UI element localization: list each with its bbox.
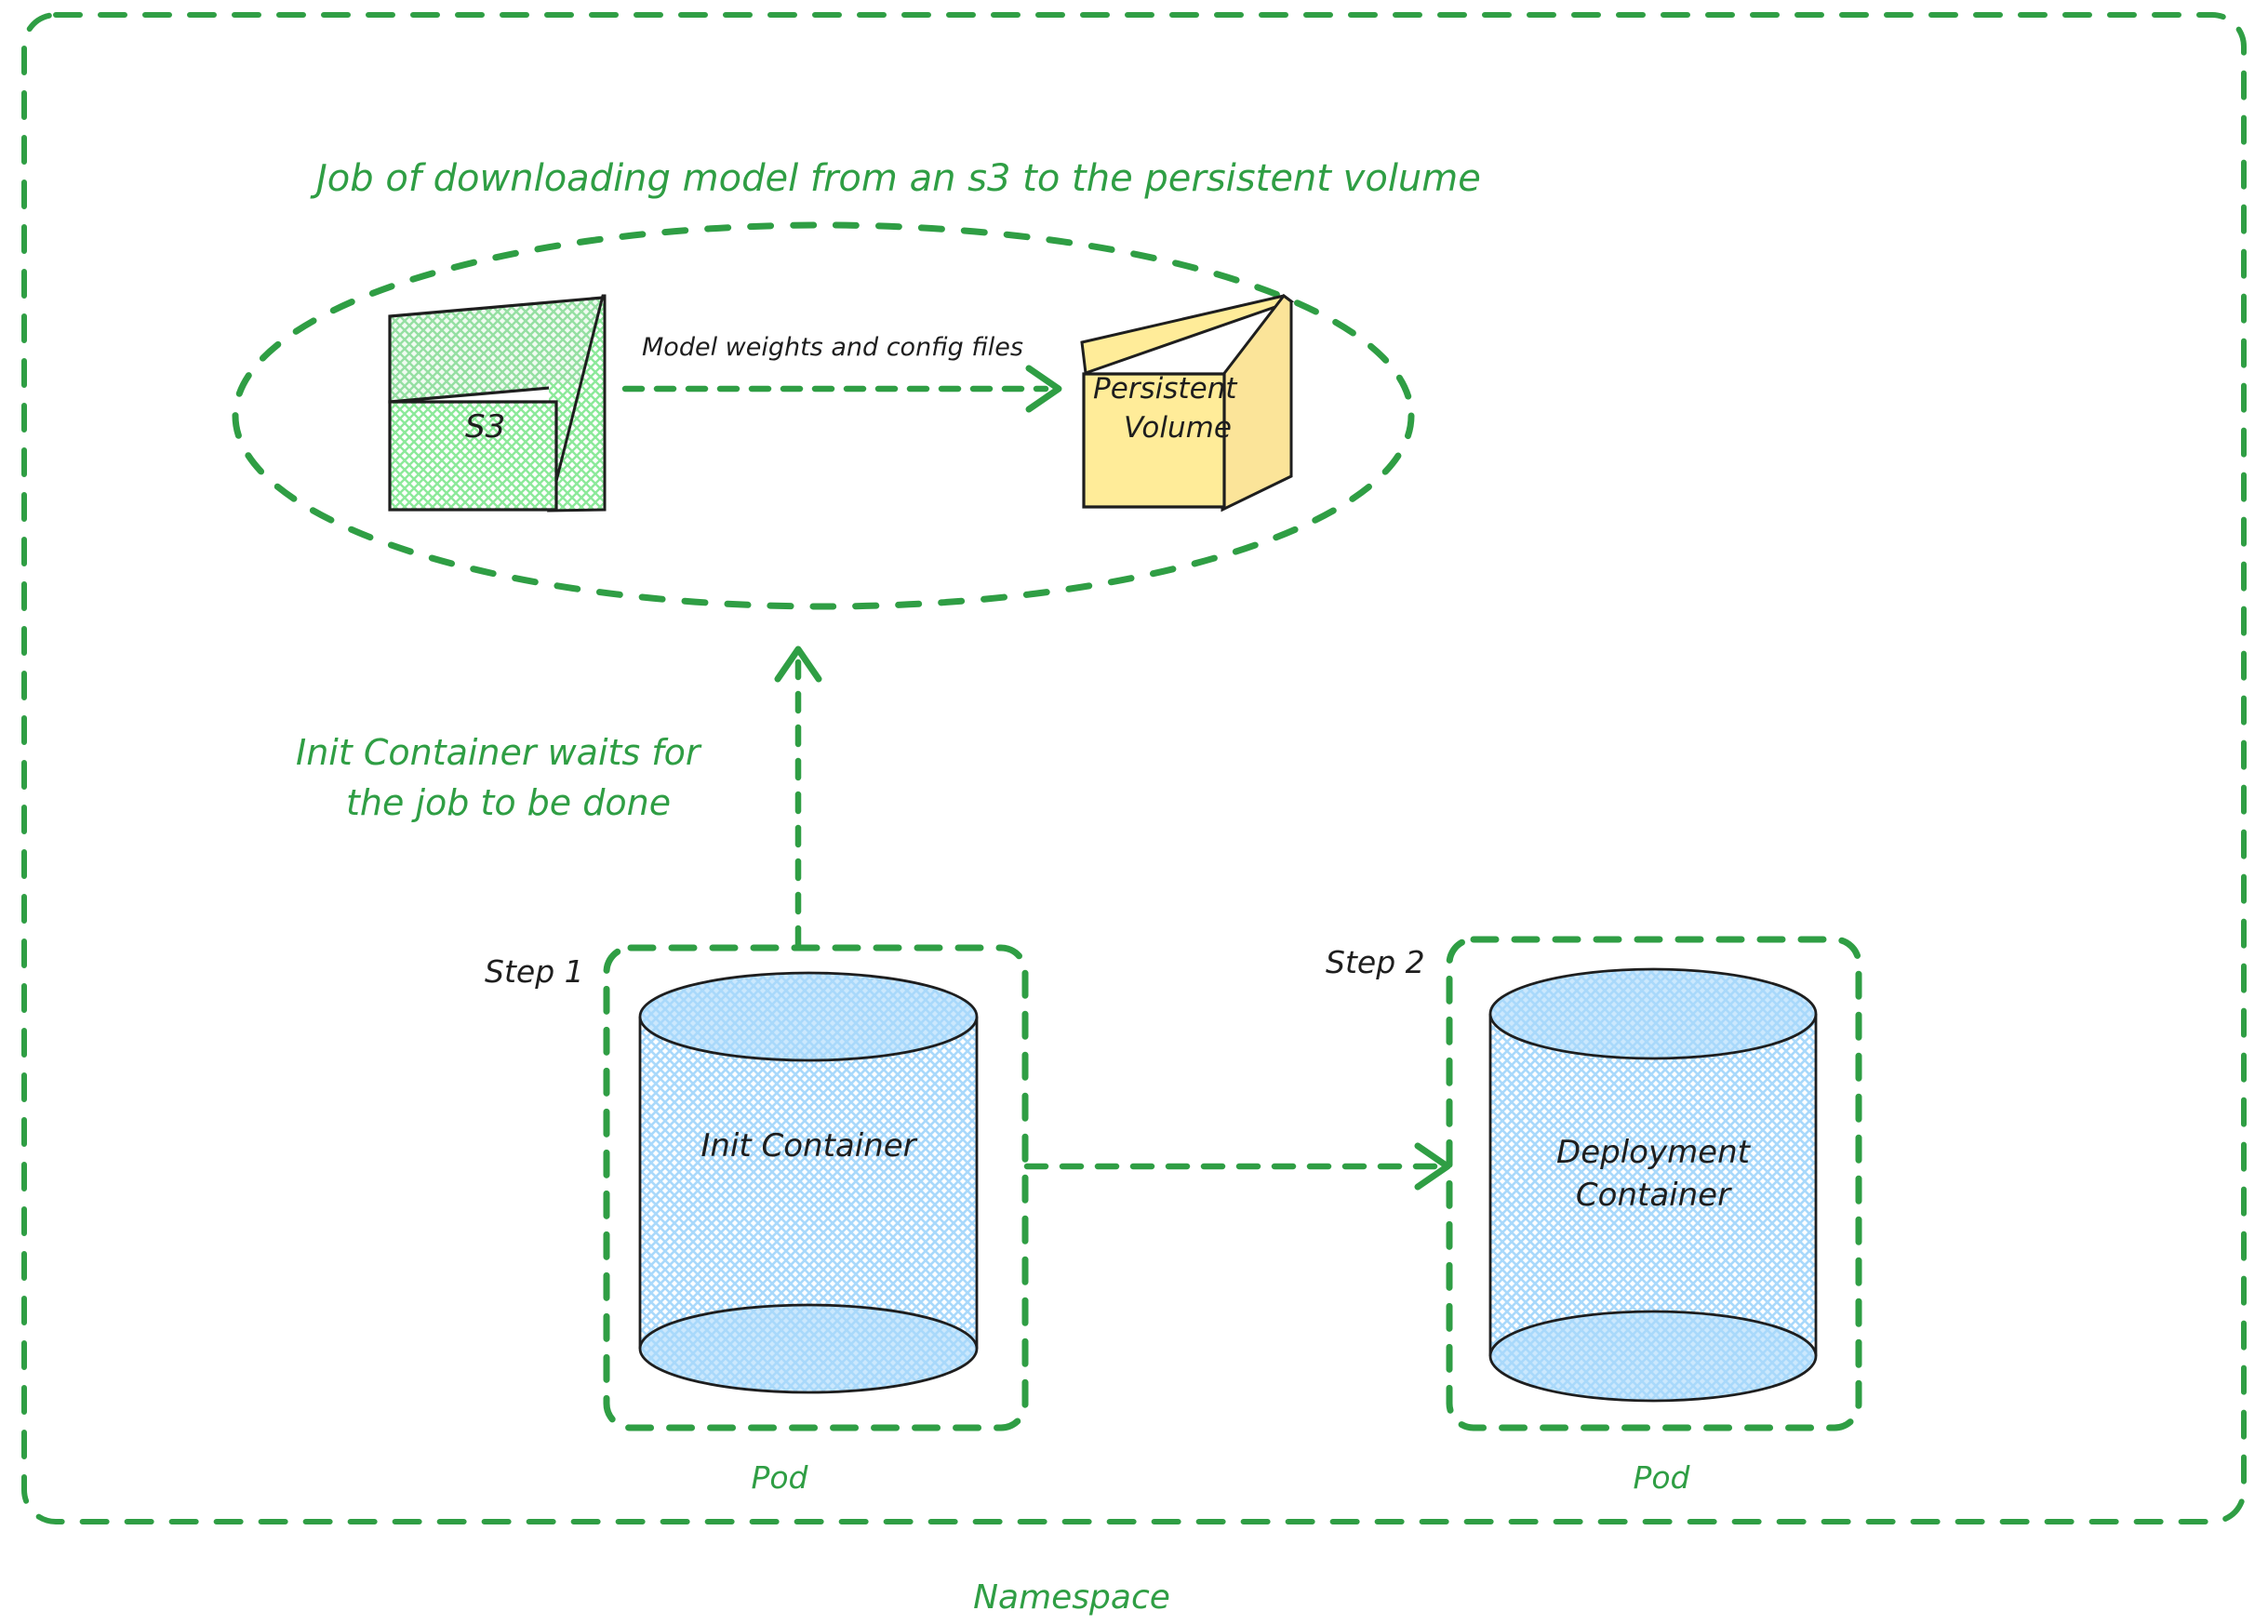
namespace-label: Namespace (973, 1578, 1170, 1617)
edge-s3-to-pv: Model weights and config files (625, 333, 1059, 409)
init-container-cylinder: Init Container (640, 973, 977, 1392)
persistent-volume-label-line1: Persistent (1093, 372, 1238, 406)
deployment-container-label-line2: Container (1576, 1177, 1732, 1214)
job-group-title: Job of downloading model from an s3 to t… (310, 157, 1481, 200)
edge-pod1-to-pod2 (1027, 1146, 1448, 1187)
persistent-volume-cube: Persistent Volume (1082, 296, 1291, 510)
pod-1-boundary-label: Pod (751, 1459, 808, 1496)
pod-2: Step 2 Pod Deployment Container (1326, 939, 1859, 1496)
diagram-svg: S3 Model weights and config files Persis… (0, 0, 2268, 1624)
deployment-container-label-line1: Deployment (1556, 1134, 1752, 1171)
s3-cube: S3 (390, 296, 607, 511)
edge-init-waits-for-job: Init Container waits for the job to be d… (296, 649, 819, 945)
init-container-label: Init Container (700, 1127, 917, 1165)
edge-init-waits-label-line1: Init Container waits for (296, 732, 702, 773)
edge-init-waits-label-line2: the job to be done (346, 782, 671, 823)
pod-1-step-label: Step 1 (485, 953, 584, 990)
edge-s3-to-pv-label: Model weights and config files (642, 333, 1023, 362)
pod-1: Step 1 Pod Init Container (485, 948, 1025, 1496)
s3-cube-label: S3 (465, 408, 505, 446)
deployment-container-cylinder: Deployment Container (1490, 969, 1816, 1401)
pod-2-boundary-label: Pod (1633, 1459, 1690, 1496)
pod-2-step-label: Step 2 (1326, 944, 1425, 980)
persistent-volume-label-line2: Volume (1124, 411, 1232, 445)
diagram-canvas: S3 Model weights and config files Persis… (0, 0, 2268, 1624)
